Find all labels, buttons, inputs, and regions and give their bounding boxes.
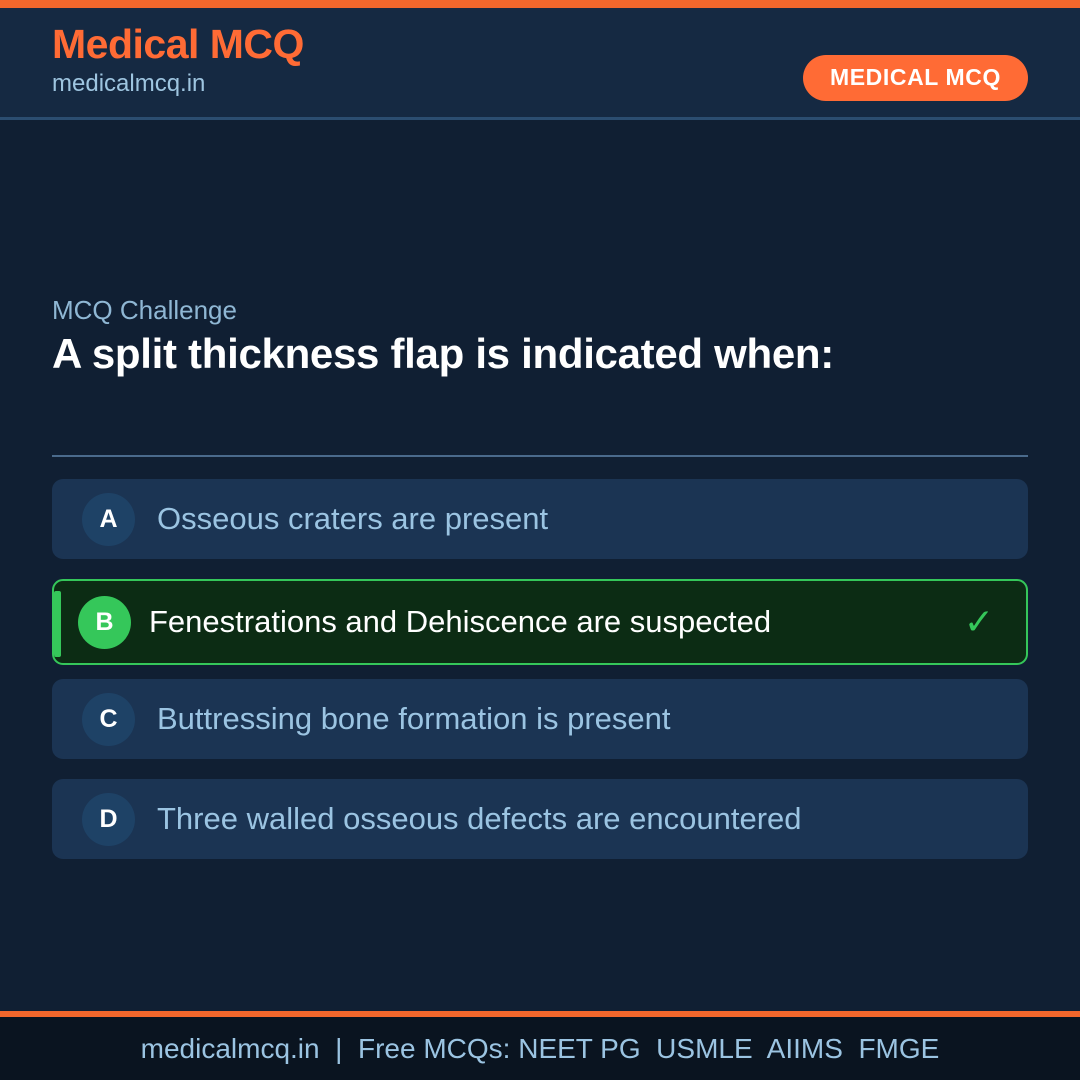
page-footer: medicalmcq.in | Free MCQs: NEET PG USMLE… bbox=[0, 1017, 1080, 1080]
option-row-d[interactable]: D Three walled osseous defects are encou… bbox=[52, 779, 1028, 859]
option-badge-b: B bbox=[78, 596, 131, 649]
top-accent-bar bbox=[0, 0, 1080, 8]
options-list: A Osseous craters are present ✓ B Fenest… bbox=[52, 479, 1028, 879]
option-badge-c: C bbox=[82, 693, 135, 746]
question-text: A split thickness flap is indicated when… bbox=[52, 327, 1028, 381]
option-row-c[interactable]: C Buttressing bone formation is present … bbox=[52, 679, 1028, 759]
option-text-d: Three walled osseous defects are encount… bbox=[157, 800, 1028, 837]
page-header: Medical MCQ medicalmcq.in MEDICAL MCQ bbox=[0, 8, 1080, 120]
eyebrow-label: MCQ Challenge bbox=[52, 295, 237, 326]
option-text-a: Osseous craters are present bbox=[157, 500, 1028, 537]
correct-accent-bar bbox=[54, 591, 61, 657]
brand-subtitle: medicalmcq.in bbox=[52, 70, 304, 99]
brand-title: Medical MCQ bbox=[52, 22, 304, 68]
question-divider bbox=[52, 455, 1028, 457]
brand-block: Medical MCQ medicalmcq.in bbox=[52, 22, 304, 99]
footer-text: medicalmcq.in | Free MCQs: NEET PG USMLE… bbox=[141, 1033, 940, 1065]
header-badge-pill: MEDICAL MCQ bbox=[803, 55, 1028, 101]
option-text-c: Buttressing bone formation is present bbox=[157, 700, 1028, 737]
option-badge-a: A bbox=[82, 493, 135, 546]
option-row-b[interactable]: B Fenestrations and Dehiscence are suspe… bbox=[52, 579, 1028, 665]
main-content: MCQ Challenge A split thickness flap is … bbox=[0, 123, 1080, 1011]
option-text-b: Fenestrations and Dehiscence are suspect… bbox=[149, 603, 964, 640]
option-badge-d: D bbox=[82, 793, 135, 846]
check-icon: ✓ bbox=[964, 604, 994, 640]
option-row-a[interactable]: A Osseous craters are present ✓ bbox=[52, 479, 1028, 559]
